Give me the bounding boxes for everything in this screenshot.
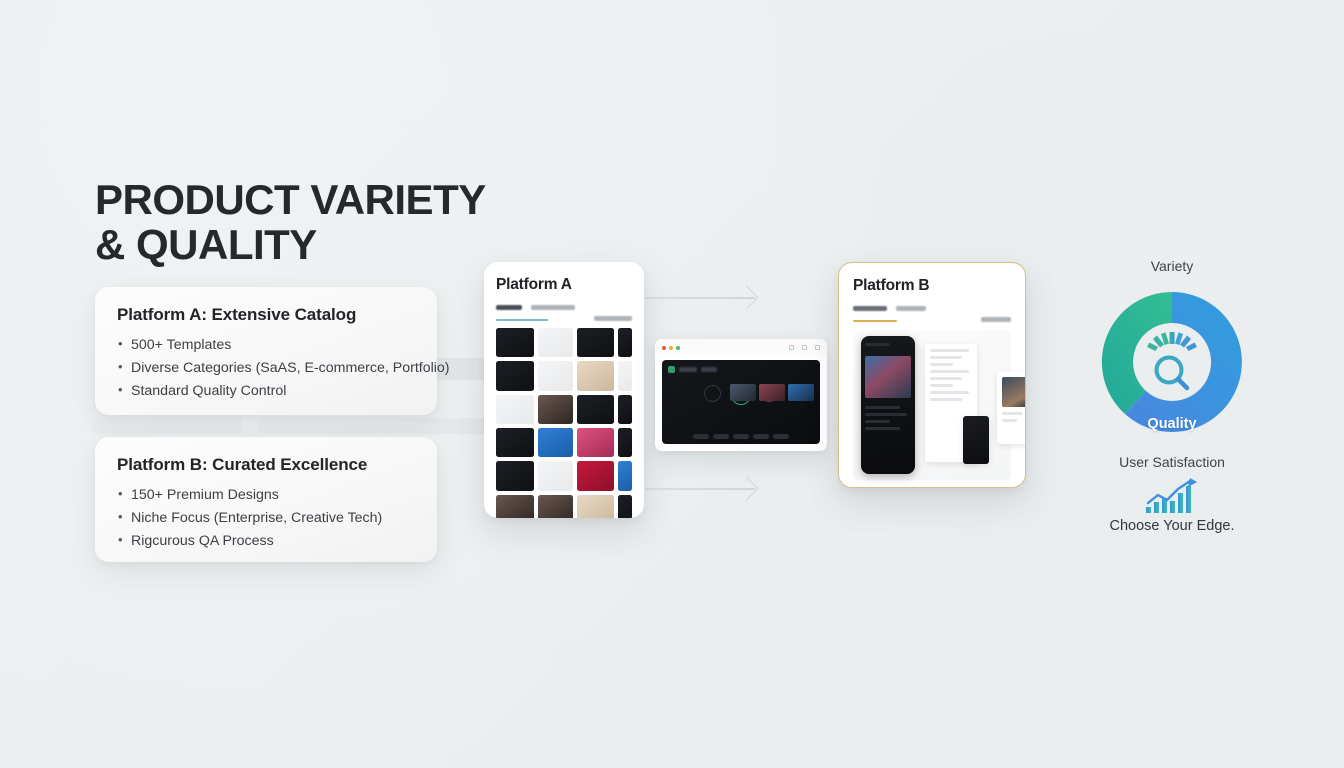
list-item: Rigcurous QA Process <box>117 530 415 553</box>
dashboard-media-thumbs <box>730 384 814 401</box>
phone-line <box>865 427 900 430</box>
metric-caption-user-satisfaction: User Satisfaction <box>1063 454 1281 470</box>
thumbnail <box>577 461 614 490</box>
mockup-a-tab-row[interactable] <box>496 305 632 321</box>
mockup-b-title: Platform B <box>853 277 1011 295</box>
list-item: 500+ Templates <box>117 334 415 357</box>
nav-placeholder <box>701 367 717 372</box>
title-line-1: PRODUCT VARIETY <box>95 178 486 223</box>
browser-title-bar <box>655 339 827 356</box>
pill <box>713 434 729 439</box>
thumbnail <box>538 361 573 390</box>
rays-icon <box>1147 332 1197 351</box>
pill <box>733 434 749 439</box>
card-a-bullet-list: 500+ Templates Diverse Categories (SaAS,… <box>117 334 415 403</box>
pill <box>693 434 709 439</box>
dashboard-header <box>668 366 814 373</box>
phone-line <box>865 406 900 409</box>
list-item: Niche Focus (Enterprise, Creative Tech) <box>117 507 415 530</box>
title-line-2: & QUALITY <box>95 223 486 268</box>
card-line <box>1002 412 1023 415</box>
tab-placeholder <box>853 306 887 311</box>
sheet-line <box>930 349 969 352</box>
thumbnail <box>538 428 573 457</box>
mockup-browser-window[interactable] <box>655 339 827 451</box>
sheet-line <box>930 384 953 387</box>
thumbnail <box>618 328 632 357</box>
card-mockup <box>997 372 1026 444</box>
thumbnail <box>538 395 573 424</box>
thumbnail <box>618 461 632 490</box>
mockup-b-tab-row[interactable] <box>853 306 1011 322</box>
list-item: Diverse Categories (SaAS, E-commerce, Po… <box>117 357 415 380</box>
thumbnail <box>496 461 534 490</box>
flow-arrow-bottom-icon <box>645 480 755 497</box>
media-thumbnail <box>788 384 814 401</box>
mockup-b-device-stage <box>853 330 1011 480</box>
tab-placeholder-right <box>594 316 632 321</box>
arrow-head <box>734 285 758 309</box>
list-item: 150+ Premium Designs <box>117 484 415 507</box>
tab-placeholder <box>496 305 522 310</box>
card-line <box>1002 419 1017 422</box>
thumbnail <box>496 361 534 390</box>
growth-chart-icon <box>1140 476 1204 516</box>
app-logo-icon <box>668 366 675 373</box>
sheet-line <box>930 377 962 380</box>
mockup-b-tabs-left <box>853 298 926 323</box>
mini-phone-mockup <box>963 416 989 464</box>
phone-mockup <box>861 336 915 474</box>
donut-chart[interactable]: Quality <box>1088 278 1256 446</box>
page-title: PRODUCT VARIETY & QUALITY <box>95 178 486 268</box>
phone-line <box>865 420 890 423</box>
connector-bar-tertiary <box>92 418 242 434</box>
phone-line <box>865 413 907 416</box>
media-thumbnail <box>759 384 785 401</box>
thumbnail <box>618 428 632 457</box>
thumbnail <box>618 395 632 424</box>
metric-panel: Variety <box>1063 258 1281 534</box>
mockup-a-tabs-left <box>496 297 575 322</box>
card-b-heading: Platform B: Curated Excellence <box>117 455 415 475</box>
thumbnail <box>577 495 614 518</box>
pill <box>753 434 769 439</box>
list-item: Standard Quality Control <box>117 380 415 403</box>
thumbnail <box>496 428 534 457</box>
thumbnail <box>496 495 534 518</box>
info-card-platform-a[interactable]: Platform A: Extensive Catalog 500+ Templ… <box>95 287 437 415</box>
mockup-a-active-tab-underline <box>496 319 548 322</box>
mockup-a-title: Platform A <box>496 276 632 294</box>
thumbnail <box>577 328 614 357</box>
donut-label-quality: Quality <box>1088 416 1256 432</box>
thumbnail <box>577 428 614 457</box>
close-icon[interactable] <box>662 346 666 350</box>
pill <box>773 434 789 439</box>
window-controls[interactable] <box>662 346 680 350</box>
dashboard-footer-pills <box>662 434 820 439</box>
minimize-icon[interactable] <box>669 346 673 350</box>
donut-label-variety: Variety <box>1063 258 1281 274</box>
connector-bar-secondary <box>258 418 498 434</box>
maximize-icon[interactable] <box>676 346 680 350</box>
mockup-b-active-tab-underline <box>853 320 897 323</box>
toolbar-icon[interactable] <box>789 345 794 350</box>
sheet-line <box>930 363 953 366</box>
sheet-line <box>930 356 962 359</box>
mockup-platform-a[interactable]: Platform A <box>484 262 644 518</box>
sheet-line <box>930 370 969 373</box>
mockup-a-thumbnail-grid <box>496 328 632 518</box>
media-thumbnail <box>730 384 756 401</box>
tab-placeholder-right <box>981 317 1011 322</box>
thumbnail <box>577 361 614 390</box>
thumbnail <box>618 361 632 390</box>
arrow-head <box>734 476 758 500</box>
tagline-choose-your-edge: Choose Your Edge. <box>1063 518 1281 534</box>
toolbar-icon[interactable] <box>802 345 807 350</box>
nav-placeholder <box>679 367 697 372</box>
card-b-bullet-list: 150+ Premium Designs Niche Focus (Enterp… <box>117 484 415 553</box>
tab-placeholder <box>531 305 575 310</box>
sheet-line <box>930 398 962 401</box>
thumbnail <box>496 395 534 424</box>
gauge-ring <box>704 385 721 402</box>
phone-hero-image <box>865 356 911 398</box>
browser-toolbar-icons[interactable] <box>789 345 820 350</box>
card-a-heading: Platform A: Extensive Catalog <box>117 305 415 325</box>
donut-segment-variety[interactable] <box>1102 292 1172 414</box>
thumbnail <box>618 495 632 518</box>
sheet-line <box>930 391 969 394</box>
mockup-platform-b[interactable]: Platform B <box>838 262 1026 488</box>
toolbar-icon[interactable] <box>815 345 820 350</box>
search-icon <box>1157 358 1188 389</box>
card-image <box>1002 377 1026 407</box>
thumbnail <box>496 328 534 357</box>
thumbnail <box>538 328 573 357</box>
tab-placeholder <box>896 306 926 311</box>
thumbnail <box>538 461 573 490</box>
flow-arrow-top-icon <box>645 289 755 306</box>
info-card-platform-b[interactable]: Platform B: Curated Excellence 150+ Prem… <box>95 437 437 562</box>
browser-viewport <box>662 360 820 444</box>
thumbnail <box>538 495 573 518</box>
thumbnail <box>577 395 614 424</box>
phone-line <box>865 343 890 346</box>
